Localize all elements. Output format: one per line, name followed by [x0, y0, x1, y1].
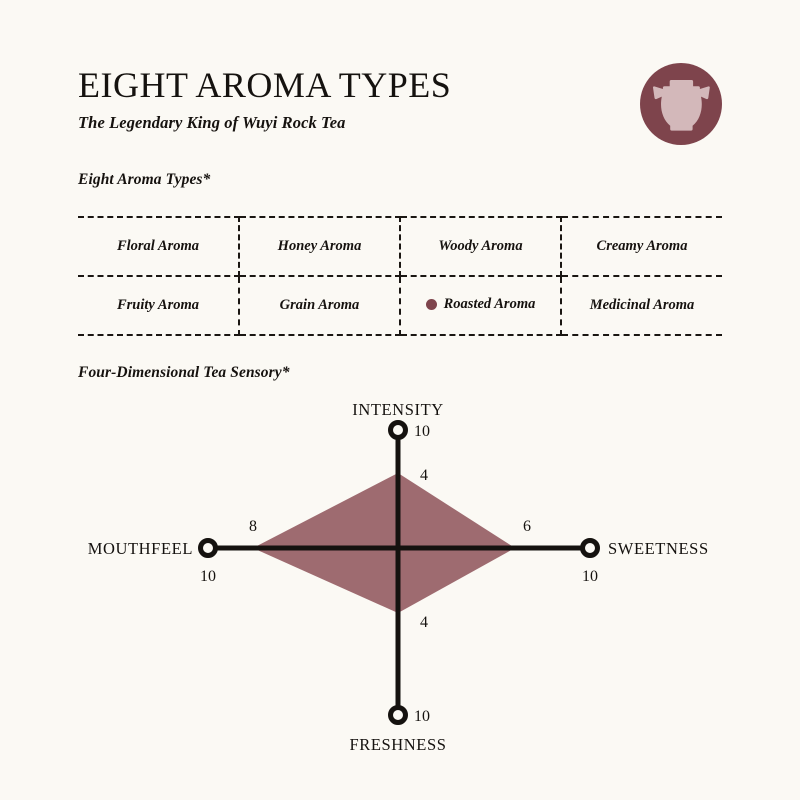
aroma-cell-fruity[interactable]: Fruity Aroma [78, 276, 239, 335]
aroma-cell-woody[interactable]: Woody Aroma [400, 217, 561, 276]
aroma-label: Woody Aroma [438, 238, 522, 255]
tea-jar-icon [640, 63, 722, 145]
axis-max-intensity: 10 [414, 423, 430, 440]
aroma-cell-roasted[interactable]: Roasted Aroma [400, 276, 561, 335]
data-value-mouthfeel: 8 [249, 518, 257, 535]
aroma-cell-floral[interactable]: Floral Aroma [78, 217, 239, 276]
aroma-cell-honey[interactable]: Honey Aroma [239, 217, 400, 276]
aroma-label: Fruity Aroma [117, 297, 199, 314]
aroma-label: Honey Aroma [278, 238, 362, 255]
aroma-label: Medicinal Aroma [590, 297, 695, 314]
page-subtitle: The Legendary King of Wuyi Rock Tea [78, 113, 638, 133]
axis-label-freshness: FRESHNESS [349, 735, 446, 754]
radar-data-polygon [253, 473, 515, 613]
page-title: EIGHT AROMA TYPES [78, 66, 638, 104]
axis-endpoint-sweetness[interactable] [583, 541, 598, 556]
table-row: Fruity Aroma Grain Aroma Roasted Aroma [78, 276, 722, 335]
data-value-sweetness: 6 [523, 518, 531, 535]
aroma-types-table: Floral Aroma Honey Aroma Woody Aroma Cre… [78, 216, 722, 336]
axis-label-sweetness: SWEETNESS [608, 539, 709, 558]
data-value-intensity: 4 [420, 467, 428, 484]
poster-canvas: EIGHT AROMA TYPES The Legendary King of … [0, 0, 800, 800]
aroma-section-heading: Eight Aroma Types* [78, 171, 210, 189]
aroma-label: Grain Aroma [280, 297, 360, 314]
aroma-label: Floral Aroma [117, 238, 199, 255]
radar-chart: INTENSITY FRESHNESS MOUTHFEEL SWEETNESS … [0, 390, 800, 760]
axis-endpoint-intensity[interactable] [391, 423, 406, 438]
aroma-label: Creamy Aroma [597, 238, 688, 255]
axis-max-mouthfeel: 10 [200, 568, 216, 585]
axis-max-freshness: 10 [414, 708, 430, 725]
aroma-label: Roasted Aroma [444, 296, 536, 313]
sensory-section-heading: Four-Dimensional Tea Sensory* [78, 364, 290, 382]
axis-label-intensity: INTENSITY [352, 400, 444, 419]
aroma-cell-grain[interactable]: Grain Aroma [239, 276, 400, 335]
header: EIGHT AROMA TYPES The Legendary King of … [78, 66, 638, 133]
selected-marker-dot-icon [426, 299, 437, 310]
axis-max-sweetness: 10 [582, 568, 598, 585]
aroma-cell-creamy[interactable]: Creamy Aroma [561, 217, 722, 276]
data-value-freshness: 4 [420, 614, 428, 631]
axis-label-mouthfeel: MOUTHFEEL [88, 539, 193, 558]
axis-endpoint-mouthfeel[interactable] [201, 541, 216, 556]
table-row: Floral Aroma Honey Aroma Woody Aroma Cre… [78, 217, 722, 276]
aroma-cell-medicinal[interactable]: Medicinal Aroma [561, 276, 722, 335]
axis-endpoint-freshness[interactable] [391, 708, 406, 723]
